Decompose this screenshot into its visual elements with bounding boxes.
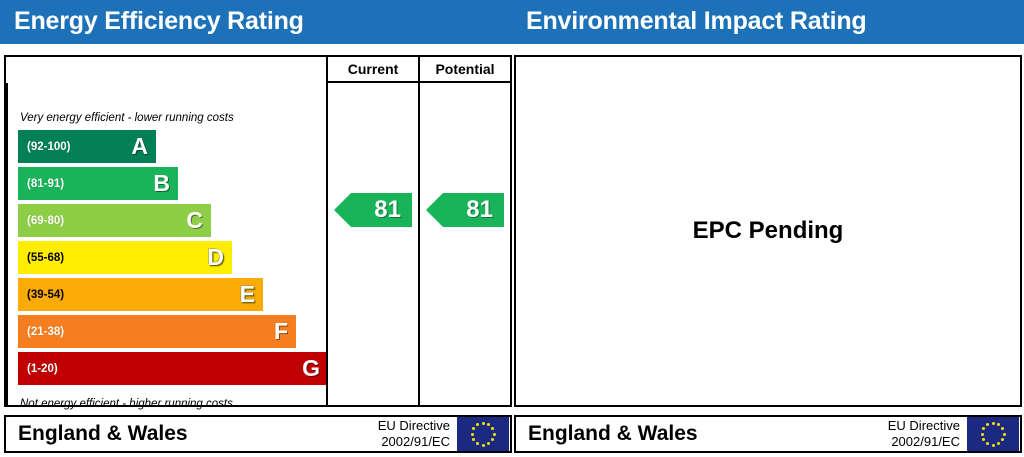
eu-star-icon (992, 422, 995, 425)
band-letter-e: E (240, 283, 255, 306)
header-bar: Energy Efficiency Rating Environmental I… (0, 0, 1024, 44)
band-range-g: (1-20) (27, 363, 58, 375)
epc-pending-message: EPC Pending (516, 57, 1020, 405)
eu-star-icon (476, 423, 479, 426)
eu-star-icon (476, 442, 479, 445)
eu-star-icon (487, 442, 490, 445)
potential-rating-column: 81 (418, 83, 510, 405)
potential-rating-arrow: 81 (426, 193, 504, 227)
rating-band-b: (81-91)B (18, 167, 178, 200)
band-letter-c: C (186, 209, 203, 232)
band-letter-b: B (153, 172, 170, 195)
band-range-a: (92-100) (27, 141, 70, 153)
eu-star-icon (493, 433, 496, 436)
band-range-b: (81-91) (27, 178, 64, 190)
band-letter-g: G (302, 357, 320, 380)
footer-right: England & Wales EU Directive 2002/91/EC (514, 415, 1022, 453)
directive-line-2: 2002/91/EC (888, 434, 960, 450)
energy-efficiency-panel: Current Potential Very energy efficient … (4, 55, 512, 407)
eu-star-icon (992, 444, 995, 447)
current-rating-arrow: 81 (334, 193, 412, 227)
eu-star-icon (982, 427, 985, 430)
footer-region-label-right: England & Wales (516, 422, 888, 446)
eu-star-icon (1001, 438, 1004, 441)
directive-line-1: EU Directive (888, 418, 960, 434)
band-range-e: (39-54) (27, 289, 64, 301)
eu-star-icon (472, 427, 475, 430)
eu-star-icon (1003, 433, 1006, 436)
caption-very-efficient: Very energy efficient - lower running co… (20, 112, 234, 124)
rating-band-c: (69-80)C (18, 204, 211, 237)
eu-star-icon (997, 423, 1000, 426)
column-header-potential: Potential (418, 57, 510, 83)
rating-band-f: (21-38)F (18, 315, 296, 348)
eu-star-icon (997, 442, 1000, 445)
current-rating-column: 81 (326, 83, 418, 405)
eu-star-icon (986, 423, 989, 426)
eu-star-icon (982, 438, 985, 441)
eu-star-icon (482, 422, 485, 425)
eu-star-icon (986, 442, 989, 445)
eu-star-icon (487, 423, 490, 426)
environmental-impact-panel: EPC Pending (514, 55, 1022, 407)
band-letter-a: A (131, 135, 148, 158)
directive-line-1: EU Directive (378, 418, 450, 434)
potential-rating-arrow-value: 81 (466, 198, 493, 222)
eu-star-icon (471, 433, 474, 436)
band-range-c: (69-80) (27, 215, 64, 227)
band-letter-f: F (274, 320, 288, 343)
environmental-impact-rating-title: Environmental Impact Rating (526, 7, 867, 36)
band-range-f: (21-38) (27, 326, 64, 338)
eu-flag-icon (967, 417, 1019, 451)
rating-band-g: (1-20)G (18, 352, 328, 385)
band-letter-d: D (207, 246, 224, 269)
column-header-current: Current (326, 57, 418, 83)
footer-directive-left: EU Directive 2002/91/EC (378, 418, 457, 450)
eu-star-icon (981, 433, 984, 436)
energy-efficiency-rating-title: Energy Efficiency Rating (14, 7, 304, 36)
rating-band-a: (92-100)A (18, 130, 156, 163)
footer-directive-right: EU Directive 2002/91/EC (888, 418, 967, 450)
footer-left: England & Wales EU Directive 2002/91/EC (4, 415, 512, 453)
caption-not-efficient: Not energy efficient - higher running co… (20, 398, 233, 410)
rating-bands-area: Very energy efficient - lower running co… (6, 83, 326, 405)
epc-certificate-graphic: Energy Efficiency Rating Environmental I… (0, 0, 1024, 457)
eu-star-icon (491, 438, 494, 441)
footer-region-label-left: England & Wales (6, 422, 378, 446)
eu-flag-icon (457, 417, 509, 451)
eu-star-icon (1001, 427, 1004, 430)
rating-band-d: (55-68)D (18, 241, 232, 274)
eu-star-icon (482, 444, 485, 447)
current-rating-arrow-value: 81 (374, 198, 401, 222)
band-range-d: (55-68) (27, 252, 64, 264)
directive-line-2: 2002/91/EC (378, 434, 450, 450)
rating-band-e: (39-54)E (18, 278, 263, 311)
eu-star-icon (472, 438, 475, 441)
eu-star-icon (491, 427, 494, 430)
